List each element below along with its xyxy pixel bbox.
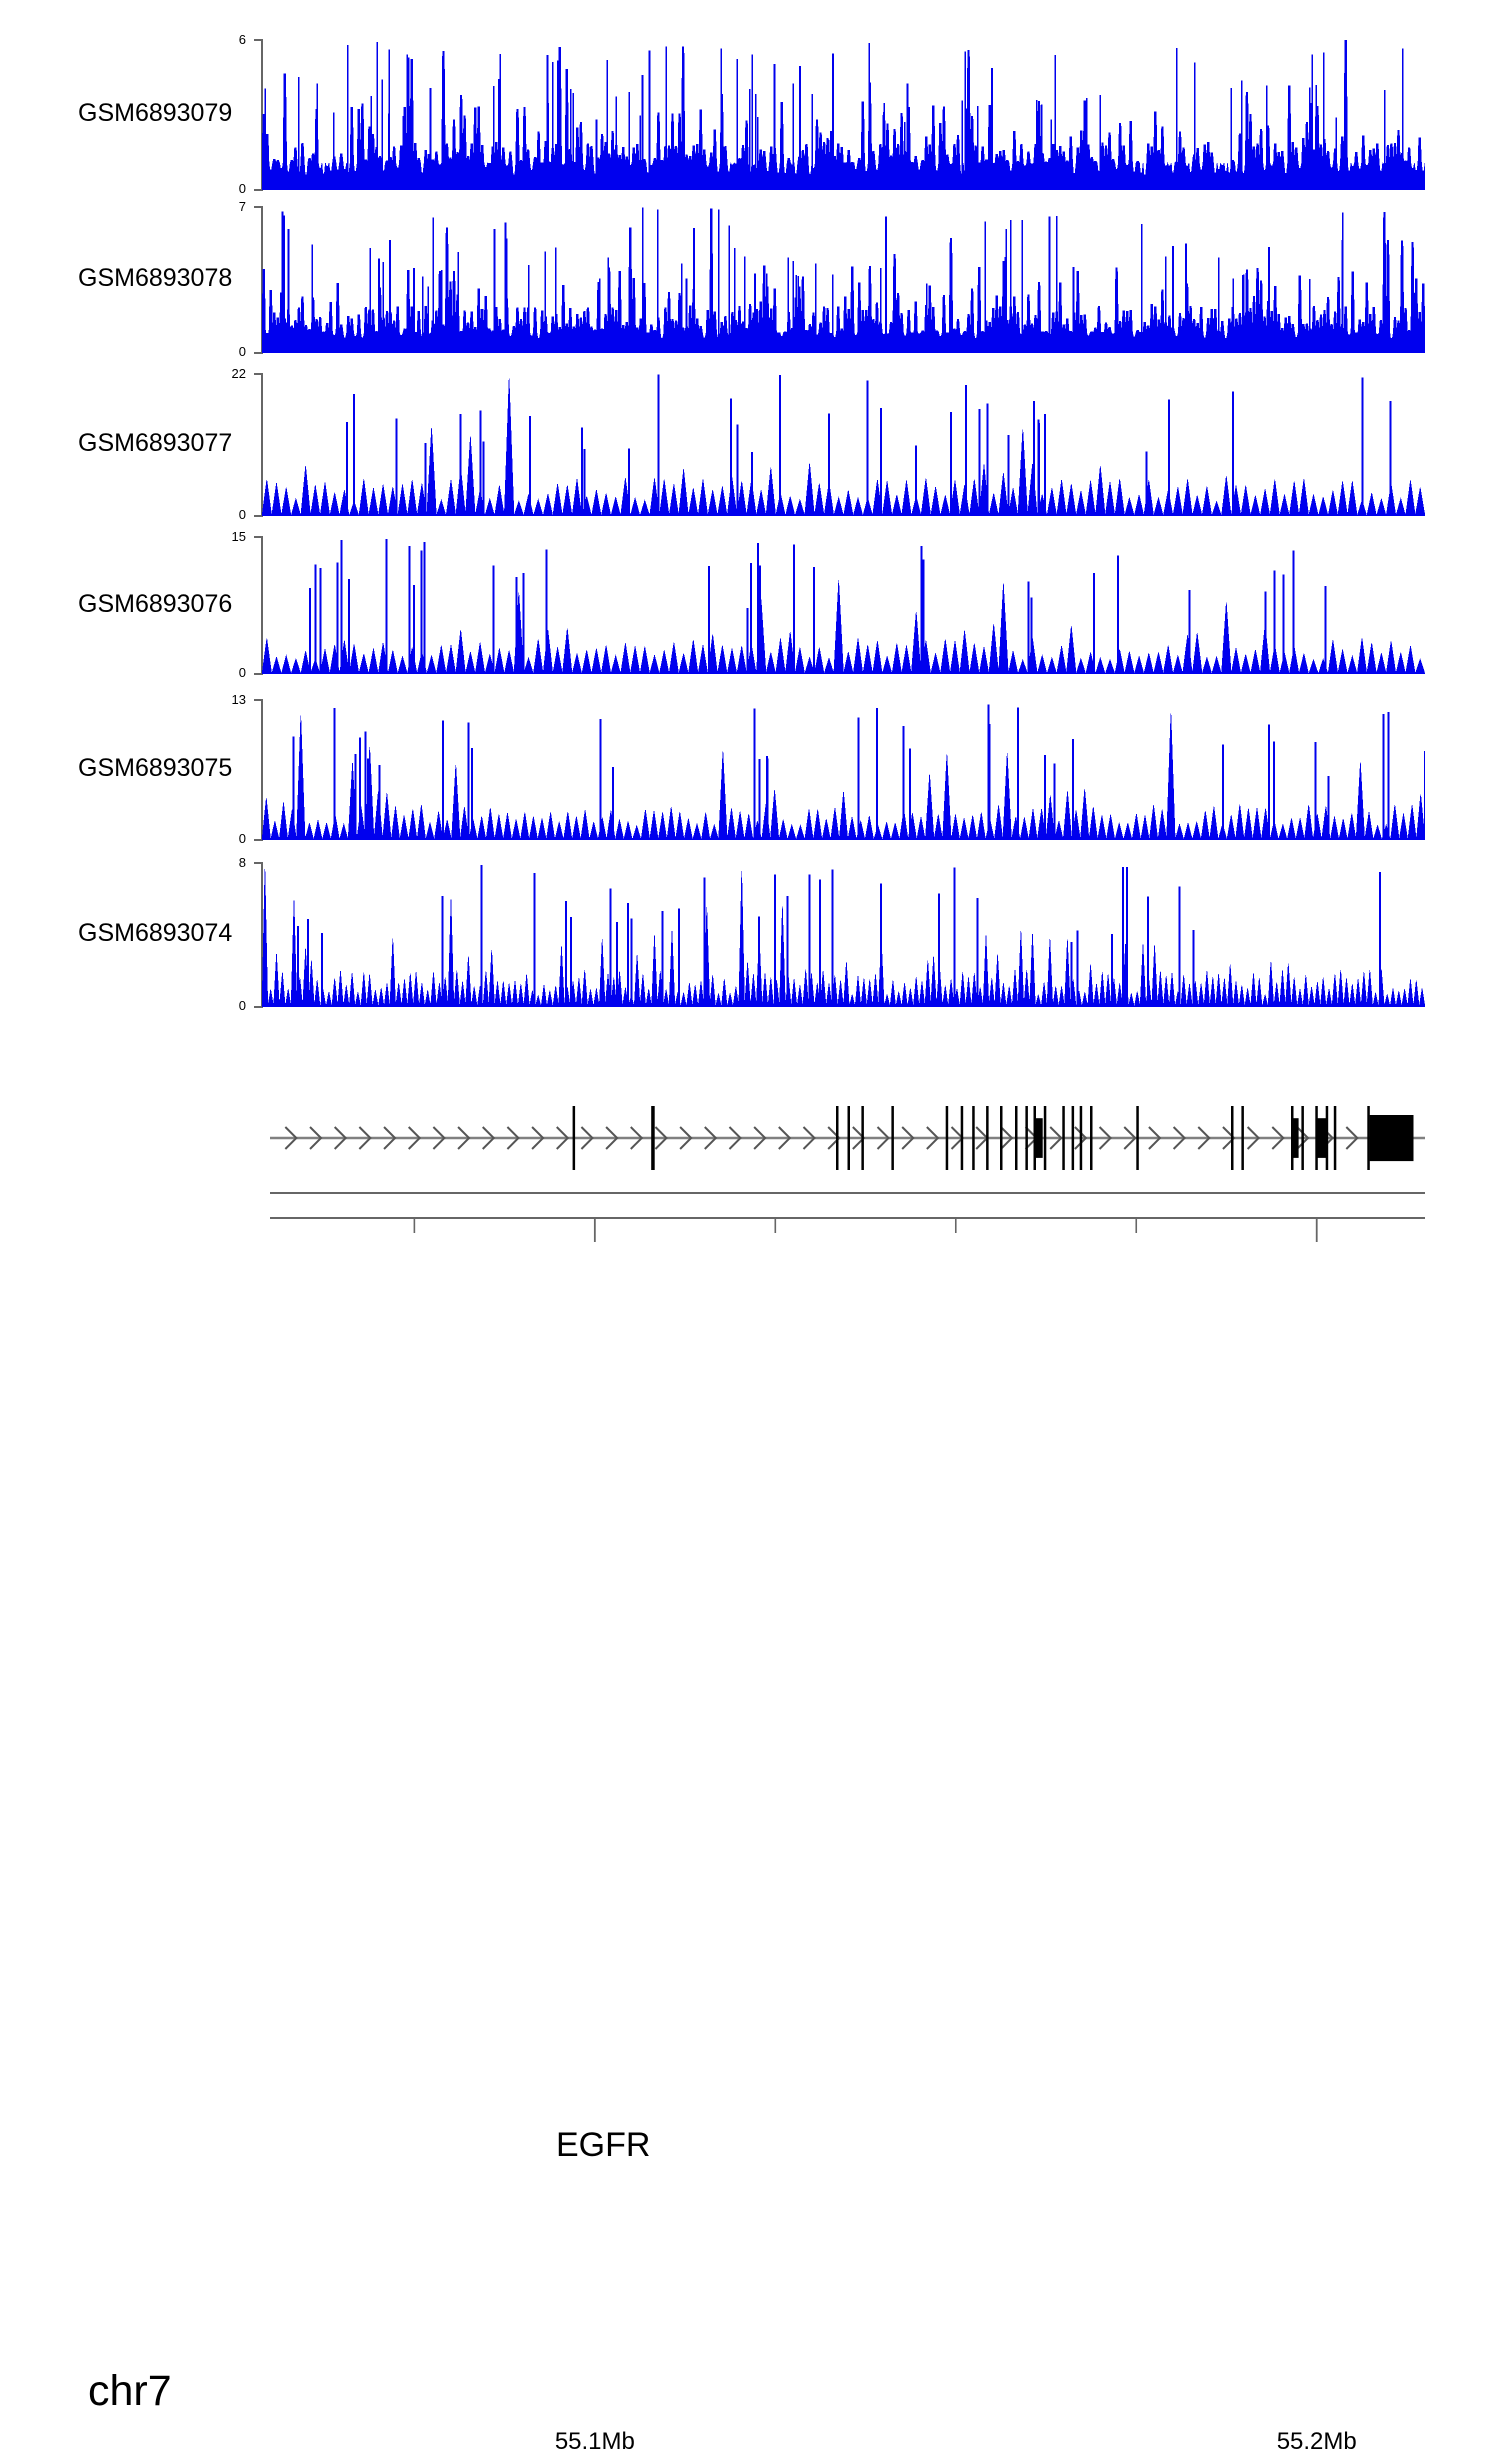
exon-block <box>848 1106 851 1170</box>
exon-block <box>891 1106 894 1170</box>
exon-block <box>1370 1115 1414 1161</box>
y-axis-min-gsm6893078: 0 <box>206 344 246 359</box>
exon-block <box>961 1106 964 1170</box>
y-axis-min-gsm6893076: 0 <box>206 665 246 680</box>
signal-plot-gsm6893078[interactable] <box>262 207 1425 353</box>
exon-block <box>1315 1106 1318 1170</box>
exon-block <box>1241 1106 1244 1170</box>
y-axis-min-gsm6893079: 0 <box>206 181 246 196</box>
exon-block <box>1231 1106 1234 1170</box>
exon-block <box>1025 1106 1028 1170</box>
ruler-tick-label: 55.2Mb <box>1257 2428 1377 2456</box>
exon-block <box>1291 1106 1294 1170</box>
y-axis-min-gsm6893074: 0 <box>206 998 246 1013</box>
gene-name-label: EGFR <box>556 2126 650 2165</box>
signal-plot-gsm6893076[interactable] <box>262 537 1425 674</box>
exon-block <box>1334 1106 1337 1170</box>
signal-plot-gsm6893079[interactable] <box>262 40 1425 190</box>
exon-block <box>1000 1106 1003 1170</box>
exon-block <box>1034 1106 1037 1170</box>
exon-block <box>861 1106 864 1170</box>
exon-block <box>1072 1106 1075 1170</box>
exon-block <box>1136 1106 1139 1170</box>
exon-block <box>836 1106 839 1170</box>
signal-plot-gsm6893077[interactable] <box>262 374 1425 516</box>
y-axis-min-gsm6893077: 0 <box>206 507 246 522</box>
track-label-gsm6893075: GSM6893075 <box>78 754 232 783</box>
y-axis-max-gsm6893079: 6 <box>206 32 246 47</box>
exon-block <box>946 1106 949 1170</box>
exon-block <box>986 1106 989 1170</box>
exon-block <box>1080 1106 1083 1170</box>
track-label-gsm6893078: GSM6893078 <box>78 264 232 293</box>
ruler-tick-label: 55.1Mb <box>535 2428 655 2456</box>
track-label-gsm6893076: GSM6893076 <box>78 590 232 619</box>
genome-browser-figure: GSM689307960GSM689307870GSM6893077220GSM… <box>0 0 1500 1320</box>
exon-block <box>1090 1106 1093 1170</box>
track-label-gsm6893074: GSM6893074 <box>78 919 232 948</box>
y-axis-max-gsm6893075: 13 <box>206 692 246 707</box>
y-axis-max-gsm6893078: 7 <box>206 199 246 214</box>
y-axis-max-gsm6893074: 8 <box>206 855 246 870</box>
exon-block <box>972 1106 975 1170</box>
exon-block <box>1326 1106 1329 1170</box>
y-axis-max-gsm6893077: 22 <box>206 366 246 381</box>
exon-block <box>1062 1106 1065 1170</box>
track-label-gsm6893077: GSM6893077 <box>78 429 232 458</box>
exon-block <box>1015 1106 1018 1170</box>
y-axis-min-gsm6893075: 0 <box>206 831 246 846</box>
signal-plot-gsm6893074[interactable] <box>262 863 1425 1007</box>
track-label-gsm6893079: GSM6893079 <box>78 99 232 128</box>
exon-block <box>573 1106 576 1170</box>
gene-model-track[interactable]: EGFR <box>0 1060 1500 1180</box>
exon-block <box>651 1106 655 1170</box>
exon-block <box>1301 1106 1304 1170</box>
chromosome-label: chr7 <box>88 2367 172 2416</box>
signal-plot-gsm6893075[interactable] <box>262 700 1425 840</box>
exon-block <box>1044 1106 1047 1170</box>
chromosome-ruler[interactable]: chr7 55.1Mb55.2Mb <box>0 1185 1500 1295</box>
exon-block <box>1367 1106 1370 1170</box>
y-axis-max-gsm6893076: 15 <box>206 529 246 544</box>
